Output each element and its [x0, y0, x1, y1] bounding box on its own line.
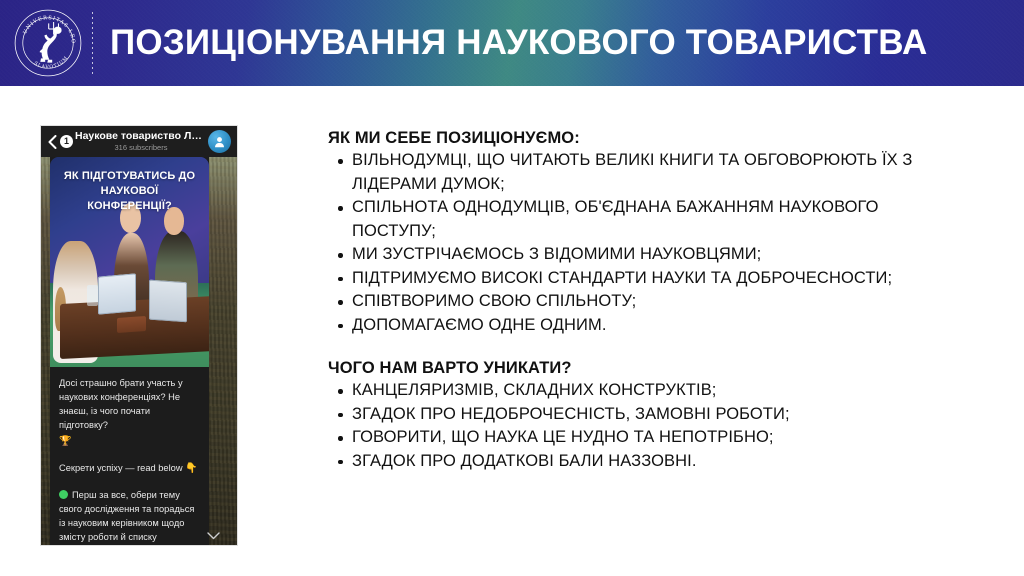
photo-notebook: [117, 316, 146, 333]
list-item: ЗГАДОК ПРО ДОДАТКОВІ БАЛИ НАЗЗОВНІ.: [352, 450, 928, 474]
list-item: ДОПОМАГАЄМО ОДНЕ ОДНИМ.: [352, 314, 928, 338]
list-item: СПІВТВОРИМО СВОЮ СПІЛЬНОТУ;: [352, 290, 928, 314]
list-item: ВІЛЬНОДУМЦІ, ЩО ЧИТАЮТЬ ВЕЛИКІ КНИГИ ТА …: [352, 149, 928, 196]
chevron-down-icon[interactable]: [207, 532, 220, 540]
page-title: ПОЗИЦІОНУВАННЯ НАУКОВОГО ТОВАРИСТВА: [110, 23, 927, 63]
section-1-list: ВІЛЬНОДУМЦІ, ЩО ЧИТАЮТЬ ВЕЛИКІ КНИГИ ТА …: [328, 149, 928, 337]
section-2-heading: ЧОГО НАМ ВАРТО УНИКАТИ?: [328, 357, 928, 379]
photo-glass: [87, 285, 98, 306]
list-item: ПІДТРИМУЄМО ВИСОКІ СТАНДАРТИ НАУКИ ТА ДО…: [352, 267, 928, 291]
post-paragraph-1-text: Досі страшно брати участь у наукових кон…: [59, 378, 183, 430]
post-emoji-point-down: 👇: [185, 463, 197, 474]
post-photo-caption: ЯК ПІДГОТУВАТИСЬ ДО НАУКОВОЇ КОНФЕРЕНЦІЇ…: [50, 169, 209, 214]
telegram-screenshot: 1 Наукове товариство ЛНУ і... 316 subscr…: [41, 126, 237, 545]
post-emoji-trophy: 🏆: [59, 435, 200, 449]
post-text-body: Досі страшно брати участь у наукових кон…: [50, 367, 209, 545]
list-item: МИ ЗУСТРІЧАЄМОСЬ З ВІДОМИМИ НАУКОВЦЯМИ;: [352, 243, 928, 267]
post-paragraph-3-text: Перш за все, обери тему свого дослідженн…: [59, 490, 196, 545]
channel-avatar-icon: [213, 135, 226, 149]
channel-title-block[interactable]: Наукове товариство ЛНУ і... 316 subscrib…: [75, 130, 207, 153]
chevron-left-icon: [48, 135, 57, 149]
list-item: ГОВОРИТИ, ЩО НАУКА ЦЕ НУДНО ТА НЕПОТРІБН…: [352, 426, 928, 450]
post-paragraph-3: Перш за все, обери тему свого дослідженн…: [59, 488, 200, 545]
telegram-channel-header: 1 Наукове товариство ЛНУ і... 316 subscr…: [41, 126, 237, 157]
post-photo-caption-line1: ЯК ПІДГОТУВАТИСЬ ДО: [58, 169, 201, 184]
slide-header-banner: UNIVERSITAS LEOPOLIENSIS SLAVOTIUM: [0, 0, 1024, 86]
section-spacer: [328, 337, 928, 357]
post-photo: ЯК ПІДГОТУВАТИСЬ ДО НАУКОВОЇ КОНФЕРЕНЦІЇ…: [50, 157, 209, 367]
section-2-list: КАНЦЕЛЯРИЗМІВ, СКЛАДНИХ КОНСТРУКТІВ; ЗГА…: [328, 379, 928, 473]
header-dotted-divider: [92, 12, 93, 74]
photo-laptop-right: [149, 280, 187, 323]
channel-name: Наукове товариство ЛНУ і...: [75, 130, 207, 143]
unread-count-badge: 1: [60, 135, 73, 148]
back-button[interactable]: 1: [48, 135, 73, 149]
green-circle-icon: [59, 490, 68, 499]
list-item: СПІЛЬНОТА ОДНОДУМЦІВ, ОБ'ЄДНАНА БАЖАННЯМ…: [352, 196, 928, 243]
telegram-post[interactable]: ЯК ПІДГОТУВАТИСЬ ДО НАУКОВОЇ КОНФЕРЕНЦІЇ…: [50, 157, 209, 545]
slide-body-content: ЯК МИ СЕБЕ ПОЗИЦІОНУЄМО: ВІЛЬНОДУМЦІ, ЩО…: [328, 127, 928, 473]
post-photo-caption-line2: НАУКОВОЇ КОНФЕРЕНЦІЇ?: [58, 184, 201, 214]
lviv-university-seal-icon: UNIVERSITAS LEOPOLIENSIS SLAVOTIUM: [13, 8, 83, 78]
post-paragraph-2-text: Секрети успіху — read below: [59, 463, 183, 473]
channel-avatar[interactable]: [208, 130, 231, 153]
photo-laptop-left: [98, 273, 136, 314]
subscriber-count: 316 subscribers: [75, 143, 207, 153]
post-paragraph-2: Секрети успіху — read below 👇: [59, 461, 200, 476]
svg-text:UNIVERSITAS LEOPOLIENSIS: UNIVERSITAS LEOPOLIENSIS: [13, 8, 76, 44]
list-item: ЗГАДОК ПРО НЕДОБРОЧЕСНІСТЬ, ЗАМОВНІ РОБО…: [352, 403, 928, 427]
section-1-heading: ЯК МИ СЕБЕ ПОЗИЦІОНУЄМО:: [328, 127, 928, 149]
list-item: КАНЦЕЛЯРИЗМІВ, СКЛАДНИХ КОНСТРУКТІВ;: [352, 379, 928, 403]
post-paragraph-1: Досі страшно брати участь у наукових кон…: [59, 376, 200, 432]
